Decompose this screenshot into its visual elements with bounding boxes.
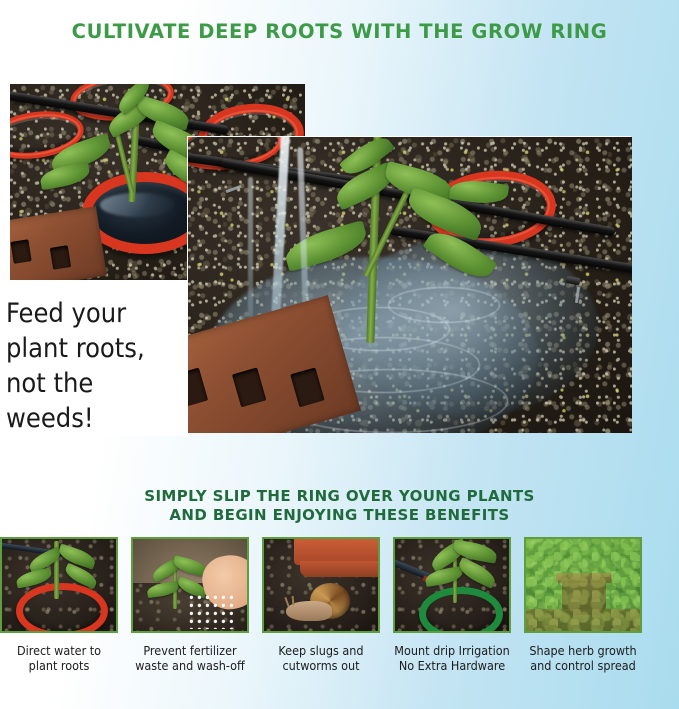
benefit-thumbnail-direct-water: [0, 537, 118, 633]
benefit-caption: Shape herb growth and control spread: [524, 643, 642, 673]
benefit-thumbnail-herbs: [524, 537, 642, 633]
caption-line-2: No Extra Hardware: [393, 658, 511, 673]
caption-line-2: waste and wash-off: [131, 658, 249, 673]
water-stream: [248, 177, 253, 317]
quote-text: Feed your plant roots, not the weeds!: [6, 296, 186, 436]
caption-line-1: Mount drip Irrigation: [393, 643, 511, 658]
water-ripple: [388, 287, 500, 323]
benefit-item: Mount drip Irrigation No Extra Hardware: [393, 537, 511, 673]
benefit-item: Direct water to plant roots: [0, 537, 118, 673]
page-title: CULTIVATE DEEP ROOTS WITH THE GROW RING: [0, 20, 679, 43]
benefit-caption: Keep slugs and cutworms out: [262, 643, 380, 673]
benefit-caption: Direct water to plant roots: [0, 643, 118, 673]
caption-line-1: Prevent fertilizer: [131, 643, 249, 658]
benefit-thumbnail-slugs: [262, 537, 380, 633]
brick: [10, 206, 107, 280]
benefit-item: Keep slugs and cutworms out: [262, 537, 380, 673]
benefit-thumbnail-fertilizer: [131, 537, 249, 633]
hero-photo-right: [188, 137, 632, 433]
benefit-caption: Prevent fertilizer waste and wash-off: [131, 643, 249, 673]
benefits-strip: Direct water to plant roots Prevent fert…: [0, 537, 679, 673]
subtitle-line-2: AND BEGIN ENJOYING THESE BENEFITS: [0, 506, 679, 525]
caption-line-2: cutworms out: [262, 658, 380, 673]
benefit-caption: Mount drip Irrigation No Extra Hardware: [393, 643, 511, 673]
subtitle-line-1: SIMPLY SLIP THE RING OVER YOUNG PLANTS: [0, 487, 679, 506]
caption-line-2: and control spread: [524, 658, 642, 673]
infographic-canvas: CULTIVATE DEEP ROOTS WITH THE GROW RING: [0, 0, 679, 709]
section-subtitle: SIMPLY SLIP THE RING OVER YOUNG PLANTS A…: [0, 487, 679, 525]
caption-line-2: plant roots: [0, 658, 118, 673]
caption-line-1: Shape herb growth: [524, 643, 642, 658]
caption-line-1: Direct water to: [0, 643, 118, 658]
benefit-item: Shape herb growth and control spread: [524, 537, 642, 673]
caption-line-1: Keep slugs and: [262, 643, 380, 658]
benefit-thumbnail-drip: [393, 537, 511, 633]
benefit-item: Prevent fertilizer waste and wash-off: [131, 537, 249, 673]
